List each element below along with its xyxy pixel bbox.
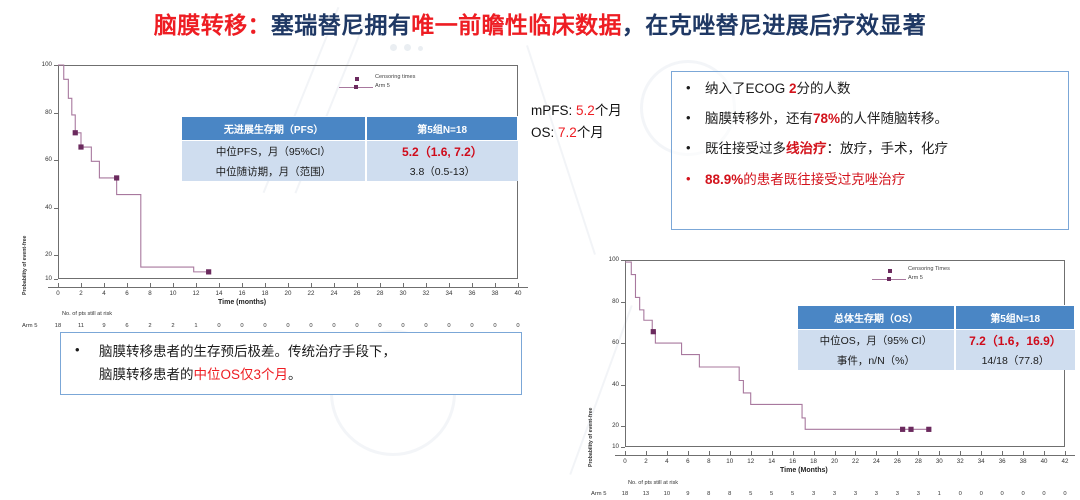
pfs-x-tick: 24 bbox=[325, 290, 343, 297]
os-x-tick-mark bbox=[855, 451, 856, 455]
pfs-y-tick-mark bbox=[54, 113, 58, 114]
os-x-tick-mark bbox=[814, 451, 815, 455]
os-x-tick: 38 bbox=[1014, 458, 1032, 465]
title-part-3: 唯一前瞻性临床数据 bbox=[411, 12, 622, 38]
os-results-table: 总体生存期（OS） 第5组N=18 中位OS，月（95% CI） 7.2（1.6… bbox=[797, 305, 1075, 370]
pfs-x-tick: 8 bbox=[141, 290, 159, 297]
pfs-risk-value: 0 bbox=[326, 323, 342, 329]
os-table-header-group: 第5组N=18 bbox=[955, 306, 1074, 330]
pfs-x-tick-mark bbox=[265, 283, 266, 287]
pfs-legend-label-censoring: Censoring times bbox=[375, 74, 415, 80]
list-item: 88.9%的患者既往接受过克唑治疗 bbox=[680, 172, 1060, 188]
os-x-tick-mark bbox=[835, 451, 836, 455]
key-findings-panel: 纳入了ECOG 2分的人数 脑膜转移外，还有78%的人伴随脑转移。 既往接受过多… bbox=[671, 71, 1069, 230]
pfs-risk-value: 2 bbox=[165, 323, 181, 329]
pfs-risk-value: 9 bbox=[96, 323, 112, 329]
os-legend-label-arm: Arm 5 bbox=[908, 275, 923, 281]
pfs-row-1-value: 3.8（0.5-13） bbox=[366, 162, 517, 181]
pfs-risk-value: 0 bbox=[372, 323, 388, 329]
pfs-x-tick: 6 bbox=[118, 290, 136, 297]
pfs-x-axis-line bbox=[48, 287, 528, 288]
os-x-tick-mark bbox=[981, 451, 982, 455]
pfs-x-tick: 2 bbox=[72, 290, 90, 297]
watermark-dot bbox=[390, 44, 397, 51]
os-x-tick: 22 bbox=[846, 458, 864, 465]
bullet-2-post: ：放疗，手术，化疗 bbox=[827, 141, 949, 156]
pfs-y-tick-mark bbox=[54, 160, 58, 161]
os-y-tick: 10 bbox=[599, 443, 619, 450]
survival-summary: mPFS: 5.2个月 OS: 7.2个月 bbox=[531, 101, 622, 144]
pfs-x-tick: 16 bbox=[233, 290, 251, 297]
os-x-tick: 0 bbox=[616, 458, 634, 465]
os-y-tick-mark bbox=[621, 302, 625, 303]
note-line-2-pre: 脑膜转移患者的 bbox=[99, 367, 194, 382]
pfs-x-tick-mark bbox=[357, 283, 358, 287]
os-x-tick: 4 bbox=[658, 458, 676, 465]
os-x-tick: 24 bbox=[867, 458, 885, 465]
table-row: 中位OS，月（95% CI） 7.2（1.6，16.9） bbox=[798, 330, 1075, 352]
bullet-1-highlight: 78% bbox=[813, 111, 840, 126]
os-value: 7.2 bbox=[558, 125, 577, 140]
pfs-x-tick-mark bbox=[81, 283, 82, 287]
os-risk-value: 0 bbox=[973, 491, 989, 497]
os-x-axis-line bbox=[615, 455, 1075, 456]
pfs-risk-table-arm: Arm 5 bbox=[22, 323, 37, 329]
pfs-kaplan-meier-chart: Probability of event-free Censoring time… bbox=[0, 55, 540, 330]
key-findings-list: 纳入了ECOG 2分的人数 脑膜转移外，还有78%的人伴随脑转移。 既往接受过多… bbox=[680, 81, 1060, 188]
os-x-tick: 36 bbox=[993, 458, 1011, 465]
list-item: 脑膜转移外，还有78%的人伴随脑转移。 bbox=[680, 111, 1060, 127]
prognosis-note-text: 脑膜转移患者的生存预后极差。传统治疗手段下，脑膜转移患者的中位OS仅3个月。 bbox=[67, 340, 515, 386]
pfs-x-tick: 30 bbox=[394, 290, 412, 297]
os-x-tick-mark bbox=[1044, 451, 1045, 455]
pfs-y-tick-mark bbox=[54, 255, 58, 256]
os-risk-value: 3 bbox=[910, 491, 926, 497]
pfs-x-tick: 4 bbox=[95, 290, 113, 297]
os-x-tick-mark bbox=[939, 451, 940, 455]
os-x-tick: 40 bbox=[1035, 458, 1053, 465]
mpfs-summary-line: mPFS: 5.2个月 bbox=[531, 103, 622, 118]
os-risk-value: 9 bbox=[680, 491, 696, 497]
pfs-y-tick: 80 bbox=[32, 109, 52, 116]
pfs-risk-table-title: No. of pts still at risk bbox=[62, 311, 112, 317]
os-kaplan-meier-chart: Probability of event-free Censoring Time… bbox=[575, 252, 1080, 500]
os-x-tick-mark bbox=[876, 451, 877, 455]
pfs-risk-value: 0 bbox=[349, 323, 365, 329]
pfs-results-table: 无进展生存期（PFS） 第5组N=18 中位PFS，月（95%CI） 5.2（1… bbox=[181, 116, 518, 181]
os-x-tick: 12 bbox=[742, 458, 760, 465]
os-risk-value: 8 bbox=[701, 491, 717, 497]
pfs-x-tick-mark bbox=[150, 283, 151, 287]
pfs-x-tick-mark bbox=[449, 283, 450, 287]
os-x-tick-mark bbox=[709, 451, 710, 455]
os-y-tick-mark bbox=[621, 447, 625, 448]
os-risk-value: 0 bbox=[994, 491, 1010, 497]
os-summary-line: OS: 7.2个月 bbox=[531, 125, 604, 140]
os-risk-value: 5 bbox=[743, 491, 759, 497]
pfs-risk-value: 6 bbox=[119, 323, 135, 329]
watermark-dot bbox=[404, 44, 411, 51]
os-x-tick-mark bbox=[625, 451, 626, 455]
os-x-tick-mark bbox=[667, 451, 668, 455]
pfs-y-tick: 20 bbox=[32, 251, 52, 258]
os-risk-value: 18 bbox=[617, 491, 633, 497]
pfs-x-tick: 20 bbox=[279, 290, 297, 297]
pfs-x-tick: 10 bbox=[164, 290, 182, 297]
pfs-x-tick-mark bbox=[127, 283, 128, 287]
prognosis-note-panel: 脑膜转移患者的生存预后极差。传统治疗手段下，脑膜转移患者的中位OS仅3个月。 bbox=[60, 332, 522, 395]
note-line-1: 脑膜转移患者的生存预后极差。传统治疗手段下， bbox=[99, 344, 396, 359]
os-x-tick-mark bbox=[897, 451, 898, 455]
pfs-x-tick-mark bbox=[219, 283, 220, 287]
pfs-risk-value: 2 bbox=[142, 323, 158, 329]
watermark-dot bbox=[418, 46, 423, 51]
pfs-table-header-group: 第5组N=18 bbox=[366, 117, 517, 141]
os-row-0-value: 7.2（1.6，16.9） bbox=[955, 330, 1074, 352]
mpfs-label: mPFS: bbox=[531, 103, 572, 118]
pfs-x-tick-mark bbox=[426, 283, 427, 287]
mpfs-value: 5.2 bbox=[576, 103, 595, 118]
os-risk-table-title: No. of pts still at risk bbox=[628, 480, 678, 486]
os-x-tick: 32 bbox=[951, 458, 969, 465]
os-risk-value: 3 bbox=[868, 491, 884, 497]
os-x-tick: 6 bbox=[679, 458, 697, 465]
pfs-x-tick: 14 bbox=[210, 290, 228, 297]
os-x-tick: 14 bbox=[763, 458, 781, 465]
mpfs-unit: 个月 bbox=[595, 103, 622, 118]
os-x-tick: 30 bbox=[930, 458, 948, 465]
pfs-x-tick: 34 bbox=[440, 290, 458, 297]
pfs-risk-value: 0 bbox=[464, 323, 480, 329]
os-y-tick: 100 bbox=[599, 256, 619, 263]
bullet-0-pre: 纳入了ECOG bbox=[705, 81, 789, 96]
os-risk-value: 3 bbox=[827, 491, 843, 497]
os-row-0-label: 中位OS，月（95% CI） bbox=[798, 330, 956, 352]
pfs-risk-value: 11 bbox=[73, 323, 89, 329]
pfs-risk-value: 0 bbox=[211, 323, 227, 329]
os-x-tick: 26 bbox=[888, 458, 906, 465]
pfs-x-tick-mark bbox=[311, 283, 312, 287]
pfs-x-tick: 18 bbox=[256, 290, 274, 297]
os-risk-value: 13 bbox=[638, 491, 654, 497]
os-x-tick: 16 bbox=[784, 458, 802, 465]
bullet-2-pre: 既往接受过多 bbox=[705, 141, 786, 156]
os-y-tick: 40 bbox=[599, 381, 619, 388]
list-item: 既往接受过多线治疗：放疗，手术，化疗 bbox=[680, 141, 1060, 157]
os-x-tick-mark bbox=[646, 451, 647, 455]
pfs-x-tick-mark bbox=[104, 283, 105, 287]
os-x-tick-mark bbox=[918, 451, 919, 455]
pfs-table-header-metric: 无进展生存期（PFS） bbox=[182, 117, 367, 141]
os-risk-value: 0 bbox=[952, 491, 968, 497]
pfs-y-tick-mark bbox=[54, 279, 58, 280]
os-x-axis-label: Time (Months) bbox=[780, 467, 828, 474]
pfs-x-tick-mark bbox=[58, 283, 59, 287]
bullet-1-post: 的人伴随脑转移。 bbox=[840, 111, 948, 126]
pfs-x-tick-mark bbox=[518, 283, 519, 287]
os-x-tick-mark bbox=[688, 451, 689, 455]
os-risk-value: 5 bbox=[764, 491, 780, 497]
os-x-tick-mark bbox=[1002, 451, 1003, 455]
pfs-risk-value: 0 bbox=[257, 323, 273, 329]
slide-title: 脑膜转移：塞瑞替尼拥有唯一前瞻性临床数据，在克唑替尼进展后疗效显著 bbox=[0, 6, 1080, 40]
pfs-x-tick-mark bbox=[242, 283, 243, 287]
os-x-tick: 10 bbox=[721, 458, 739, 465]
os-x-tick-mark bbox=[730, 451, 731, 455]
pfs-x-tick-mark bbox=[403, 283, 404, 287]
pfs-x-tick: 36 bbox=[463, 290, 481, 297]
table-row: 中位随访期，月（范围） 3.8（0.5-13） bbox=[182, 162, 518, 181]
pfs-x-tick-mark bbox=[173, 283, 174, 287]
os-risk-value: 10 bbox=[659, 491, 675, 497]
pfs-y-tick: 40 bbox=[32, 204, 52, 211]
bullet-0-post: 分的人数 bbox=[797, 81, 851, 96]
os-risk-value: 3 bbox=[889, 491, 905, 497]
os-legend-label-censoring: Censoring Times bbox=[908, 266, 950, 272]
os-y-tick-mark bbox=[621, 343, 625, 344]
pfs-risk-value: 0 bbox=[510, 323, 526, 329]
os-x-tick: 8 bbox=[700, 458, 718, 465]
pfs-row-0-label: 中位PFS，月（95%CI） bbox=[182, 141, 367, 163]
pfs-y-tick: 10 bbox=[32, 275, 52, 282]
pfs-x-tick-mark bbox=[334, 283, 335, 287]
table-row: 中位PFS，月（95%CI） 5.2（1.6, 7.2） bbox=[182, 141, 518, 163]
note-line-2-highlight: 中位OS仅3个月 bbox=[194, 367, 289, 382]
pfs-risk-value: 0 bbox=[234, 323, 250, 329]
table-header-row: 无进展生存期（PFS） 第5组N=18 bbox=[182, 117, 518, 141]
os-x-tick-mark bbox=[1065, 451, 1066, 455]
os-x-tick-mark bbox=[793, 451, 794, 455]
os-x-tick: 20 bbox=[826, 458, 844, 465]
bullet-1-pre: 脑膜转移外，还有 bbox=[705, 111, 813, 126]
os-y-tick-mark bbox=[621, 385, 625, 386]
pfs-risk-value: 0 bbox=[395, 323, 411, 329]
pfs-y-tick: 60 bbox=[32, 156, 52, 163]
os-x-tick: 28 bbox=[909, 458, 927, 465]
pfs-x-tick: 28 bbox=[371, 290, 389, 297]
bullet-0-highlight: 2 bbox=[789, 81, 797, 96]
os-label: OS: bbox=[531, 125, 554, 140]
note-line-2-post: 。 bbox=[288, 367, 302, 382]
bullet-3-post: 的患者既往接受过克唑治疗 bbox=[743, 172, 905, 187]
os-x-tick: 18 bbox=[805, 458, 823, 465]
pfs-x-tick: 38 bbox=[486, 290, 504, 297]
os-row-1-label: 事件，n/N（%） bbox=[798, 351, 956, 370]
pfs-x-tick: 26 bbox=[348, 290, 366, 297]
table-row: 事件，n/N（%） 14/18（77.8） bbox=[798, 351, 1075, 370]
os-risk-value: 0 bbox=[1036, 491, 1052, 497]
pfs-x-axis-label: Time (months) bbox=[218, 299, 266, 306]
os-x-tick-mark bbox=[772, 451, 773, 455]
table-header-row: 总体生存期（OS） 第5组N=18 bbox=[798, 306, 1075, 330]
os-x-tick: 42 bbox=[1056, 458, 1074, 465]
title-part-4: ，在克唑替尼进展后疗效显著 bbox=[622, 12, 926, 38]
pfs-x-tick: 12 bbox=[187, 290, 205, 297]
pfs-risk-value: 0 bbox=[487, 323, 503, 329]
pfs-risk-value: 0 bbox=[441, 323, 457, 329]
os-x-tick: 2 bbox=[637, 458, 655, 465]
os-x-tick-mark bbox=[960, 451, 961, 455]
os-risk-value: 3 bbox=[806, 491, 822, 497]
pfs-legend-label-arm: Arm 5 bbox=[375, 83, 390, 89]
os-x-tick-mark bbox=[751, 451, 752, 455]
os-y-tick-mark bbox=[621, 426, 625, 427]
os-y-tick: 20 bbox=[599, 422, 619, 429]
pfs-risk-value: 0 bbox=[303, 323, 319, 329]
pfs-y-tick-mark bbox=[54, 208, 58, 209]
title-part-1: 脑膜转移： bbox=[154, 12, 271, 38]
os-risk-value: 0 bbox=[1015, 491, 1031, 497]
os-y-tick-mark bbox=[621, 260, 625, 261]
pfs-risk-value: 0 bbox=[280, 323, 296, 329]
pfs-risk-value: 1 bbox=[188, 323, 204, 329]
pfs-risk-value: 18 bbox=[50, 323, 66, 329]
pfs-x-tick-mark bbox=[472, 283, 473, 287]
pfs-y-tick-mark bbox=[54, 65, 58, 66]
bullet-3-highlight: 88.9% bbox=[705, 172, 743, 187]
pfs-x-tick: 0 bbox=[49, 290, 67, 297]
os-risk-value: 1 bbox=[931, 491, 947, 497]
pfs-x-tick: 40 bbox=[509, 290, 527, 297]
pfs-x-tick: 32 bbox=[417, 290, 435, 297]
os-table-header-metric: 总体生存期（OS） bbox=[798, 306, 956, 330]
pfs-x-tick-mark bbox=[196, 283, 197, 287]
title-part-2: 塞瑞替尼拥有 bbox=[271, 12, 411, 38]
pfs-x-tick: 22 bbox=[302, 290, 320, 297]
os-risk-table-arm: Arm 5 bbox=[591, 491, 606, 497]
os-unit: 个月 bbox=[577, 125, 604, 140]
pfs-x-tick-mark bbox=[495, 283, 496, 287]
os-risk-value: 5 bbox=[785, 491, 801, 497]
os-risk-value: 0 bbox=[1057, 491, 1073, 497]
pfs-risk-value: 0 bbox=[418, 323, 434, 329]
pfs-x-tick-mark bbox=[288, 283, 289, 287]
pfs-y-tick: 100 bbox=[32, 61, 52, 68]
os-risk-value: 8 bbox=[722, 491, 738, 497]
os-x-tick: 34 bbox=[972, 458, 990, 465]
pfs-row-1-label: 中位随访期，月（范围） bbox=[182, 162, 367, 181]
os-x-tick-mark bbox=[1023, 451, 1024, 455]
os-y-tick: 60 bbox=[599, 339, 619, 346]
pfs-x-tick-mark bbox=[380, 283, 381, 287]
pfs-row-0-value: 5.2（1.6, 7.2） bbox=[366, 141, 517, 163]
bullet-2-highlight: 线治疗 bbox=[786, 141, 827, 156]
os-row-1-value: 14/18（77.8） bbox=[955, 351, 1074, 370]
os-risk-value: 3 bbox=[847, 491, 863, 497]
pfs-curve bbox=[0, 55, 540, 330]
list-item: 纳入了ECOG 2分的人数 bbox=[680, 81, 1060, 97]
os-y-tick: 80 bbox=[599, 298, 619, 305]
